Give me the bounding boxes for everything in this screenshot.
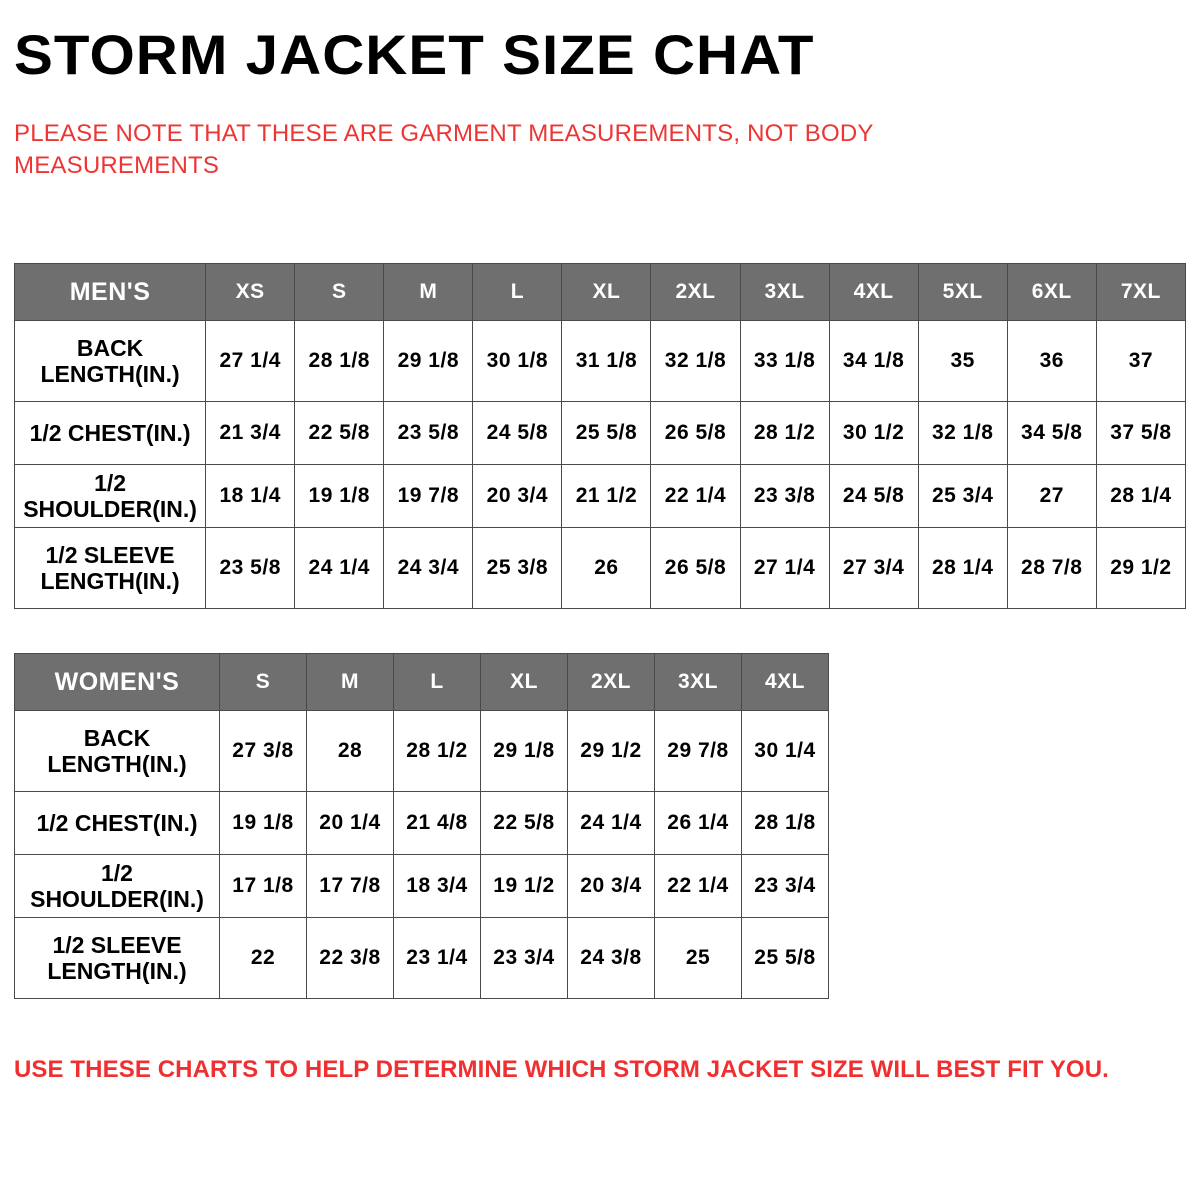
mens-cell-back-length-3xl: 33 1/8 [740,321,829,402]
mens-size-header-l: L [473,264,562,321]
womens-cell-half-shoulder-4xl: 23 3/4 [742,855,829,918]
table-row: BACK LENGTH(IN.) 27 1/4 28 1/8 29 1/8 30… [15,321,1186,402]
mens-size-header-4xl: 4XL [829,264,918,321]
womens-table-body: BACK LENGTH(IN.) 27 3/8 28 28 1/2 29 1/8… [15,711,829,999]
mens-cell-back-length-xs: 27 1/4 [206,321,295,402]
mens-table-body: BACK LENGTH(IN.) 27 1/4 28 1/8 29 1/8 30… [15,321,1186,609]
mens-cell-back-length-xl: 31 1/8 [562,321,651,402]
womens-cell-half-shoulder-2xl: 20 3/4 [568,855,655,918]
womens-row-label-half-shoulder: 1/2 SHOULDER(IN.) [15,855,220,918]
womens-cell-half-chest-4xl: 28 1/8 [742,792,829,855]
mens-cell-half-shoulder-2xl: 22 1/4 [651,465,740,528]
mens-cell-half-sleeve-7xl: 29 1/2 [1096,528,1185,609]
mens-cell-half-chest-3xl: 28 1/2 [740,402,829,465]
mens-size-header-3xl: 3XL [740,264,829,321]
womens-cell-half-shoulder-l: 18 3/4 [394,855,481,918]
mens-cell-half-sleeve-s: 24 1/4 [295,528,384,609]
size-chart-page: STORM JACKET SIZE CHAT PLEASE NOTE THAT … [0,0,1200,1200]
womens-size-header-xl: XL [481,654,568,711]
mens-table-head: MEN'S XS S M L XL 2XL 3XL 4XL 5XL 6XL 7X… [15,264,1186,321]
mens-cell-half-sleeve-6xl: 28 7/8 [1007,528,1096,609]
mens-cell-half-shoulder-xs: 18 1/4 [206,465,295,528]
mens-size-header-s: S [295,264,384,321]
womens-cell-back-length-m: 28 [307,711,394,792]
mens-cell-half-shoulder-6xl: 27 [1007,465,1096,528]
mens-header-row: MEN'S XS S M L XL 2XL 3XL 4XL 5XL 6XL 7X… [15,264,1186,321]
womens-cell-back-length-l: 28 1/2 [394,711,481,792]
mens-size-header-xs: XS [206,264,295,321]
page-title: STORM JACKET SIZE CHAT [14,22,815,88]
womens-size-header-l: L [394,654,481,711]
mens-cell-half-shoulder-l: 20 3/4 [473,465,562,528]
womens-row-label-half-chest: 1/2 CHEST(IN.) [15,792,220,855]
mens-cell-half-chest-m: 23 5/8 [384,402,473,465]
womens-cell-half-shoulder-m: 17 7/8 [307,855,394,918]
table-row: 1/2 SLEEVE LENGTH(IN.) 23 5/8 24 1/4 24 … [15,528,1186,609]
womens-cell-half-chest-l: 21 4/8 [394,792,481,855]
table-row: 1/2 SHOULDER(IN.) 17 1/8 17 7/8 18 3/4 1… [15,855,829,918]
mens-cell-back-length-6xl: 36 [1007,321,1096,402]
womens-cell-half-sleeve-m: 22 3/8 [307,918,394,999]
mens-cell-back-length-m: 29 1/8 [384,321,473,402]
mens-row-label-back-length: BACK LENGTH(IN.) [15,321,206,402]
mens-row-label-half-chest: 1/2 CHEST(IN.) [15,402,206,465]
womens-cell-half-shoulder-3xl: 22 1/4 [655,855,742,918]
womens-cell-half-sleeve-2xl: 24 3/8 [568,918,655,999]
mens-row-label-half-shoulder: 1/2 SHOULDER(IN.) [15,465,206,528]
womens-cell-half-chest-xl: 22 5/8 [481,792,568,855]
mens-size-header-6xl: 6XL [1007,264,1096,321]
table-row: BACK LENGTH(IN.) 27 3/8 28 28 1/2 29 1/8… [15,711,829,792]
mens-size-header-xl: XL [562,264,651,321]
mens-cell-half-shoulder-xl: 21 1/2 [562,465,651,528]
mens-cell-half-shoulder-5xl: 25 3/4 [918,465,1007,528]
womens-table-head: WOMEN'S S M L XL 2XL 3XL 4XL [15,654,829,711]
womens-size-header-2xl: 2XL [568,654,655,711]
womens-cell-half-sleeve-4xl: 25 5/8 [742,918,829,999]
table-row: 1/2 SHOULDER(IN.) 18 1/4 19 1/8 19 7/8 2… [15,465,1186,528]
mens-cell-half-shoulder-4xl: 24 5/8 [829,465,918,528]
womens-cell-half-chest-3xl: 26 1/4 [655,792,742,855]
mens-row-label-half-sleeve-length: 1/2 SLEEVE LENGTH(IN.) [15,528,206,609]
mens-size-table: MEN'S XS S M L XL 2XL 3XL 4XL 5XL 6XL 7X… [14,263,1186,609]
mens-cell-half-chest-4xl: 30 1/2 [829,402,918,465]
womens-cell-back-length-4xl: 30 1/4 [742,711,829,792]
mens-cell-half-shoulder-s: 19 1/8 [295,465,384,528]
mens-cell-half-shoulder-m: 19 7/8 [384,465,473,528]
womens-header-row: WOMEN'S S M L XL 2XL 3XL 4XL [15,654,829,711]
mens-cell-back-length-s: 28 1/8 [295,321,384,402]
womens-cell-half-shoulder-xl: 19 1/2 [481,855,568,918]
womens-cell-half-sleeve-3xl: 25 [655,918,742,999]
mens-cell-half-sleeve-xs: 23 5/8 [206,528,295,609]
womens-cell-back-length-xl: 29 1/8 [481,711,568,792]
womens-row-label-half-sleeve-length: 1/2 SLEEVE LENGTH(IN.) [15,918,220,999]
womens-cell-half-sleeve-xl: 23 3/4 [481,918,568,999]
womens-size-header-4xl: 4XL [742,654,829,711]
womens-size-header-s: S [220,654,307,711]
mens-cell-half-chest-s: 22 5/8 [295,402,384,465]
mens-cell-half-sleeve-m: 24 3/4 [384,528,473,609]
garment-measurement-note: PLEASE NOTE THAT THESE ARE GARMENT MEASU… [14,118,1014,182]
womens-cell-half-sleeve-s: 22 [220,918,307,999]
mens-cell-half-sleeve-l: 25 3/8 [473,528,562,609]
mens-cell-back-length-2xl: 32 1/8 [651,321,740,402]
size-guidance-note: USE THESE CHARTS TO HELP DETERMINE WHICH… [14,1055,1134,1085]
womens-cell-back-length-s: 27 3/8 [220,711,307,792]
mens-cell-half-chest-xl: 25 5/8 [562,402,651,465]
womens-size-header-3xl: 3XL [655,654,742,711]
mens-cell-back-length-4xl: 34 1/8 [829,321,918,402]
mens-cell-half-chest-6xl: 34 5/8 [1007,402,1096,465]
womens-cell-half-chest-s: 19 1/8 [220,792,307,855]
mens-cell-half-chest-xs: 21 3/4 [206,402,295,465]
table-row: 1/2 CHEST(IN.) 19 1/8 20 1/4 21 4/8 22 5… [15,792,829,855]
mens-cell-back-length-5xl: 35 [918,321,1007,402]
mens-cell-half-shoulder-3xl: 23 3/8 [740,465,829,528]
womens-cell-half-chest-m: 20 1/4 [307,792,394,855]
mens-cell-half-chest-2xl: 26 5/8 [651,402,740,465]
mens-cell-half-shoulder-7xl: 28 1/4 [1096,465,1185,528]
mens-size-header-2xl: 2XL [651,264,740,321]
womens-cell-back-length-2xl: 29 1/2 [568,711,655,792]
mens-cell-half-sleeve-3xl: 27 1/4 [740,528,829,609]
mens-cell-half-chest-7xl: 37 5/8 [1096,402,1185,465]
mens-cell-half-chest-5xl: 32 1/8 [918,402,1007,465]
mens-table-title: MEN'S [15,264,206,321]
mens-cell-half-sleeve-5xl: 28 1/4 [918,528,1007,609]
mens-cell-half-chest-l: 24 5/8 [473,402,562,465]
mens-cell-half-sleeve-4xl: 27 3/4 [829,528,918,609]
mens-cell-back-length-l: 30 1/8 [473,321,562,402]
mens-cell-half-sleeve-2xl: 26 5/8 [651,528,740,609]
mens-cell-back-length-7xl: 37 [1096,321,1185,402]
womens-size-table: WOMEN'S S M L XL 2XL 3XL 4XL BACK LENGTH… [14,653,829,999]
womens-cell-back-length-3xl: 29 7/8 [655,711,742,792]
mens-size-header-7xl: 7XL [1096,264,1185,321]
mens-cell-half-sleeve-xl: 26 [562,528,651,609]
mens-size-header-5xl: 5XL [918,264,1007,321]
womens-table-title: WOMEN'S [15,654,220,711]
table-row: 1/2 CHEST(IN.) 21 3/4 22 5/8 23 5/8 24 5… [15,402,1186,465]
womens-size-header-m: M [307,654,394,711]
womens-row-label-back-length: BACK LENGTH(IN.) [15,711,220,792]
womens-cell-half-chest-2xl: 24 1/4 [568,792,655,855]
womens-cell-half-shoulder-s: 17 1/8 [220,855,307,918]
table-row: 1/2 SLEEVE LENGTH(IN.) 22 22 3/8 23 1/4 … [15,918,829,999]
womens-cell-half-sleeve-l: 23 1/4 [394,918,481,999]
mens-size-header-m: M [384,264,473,321]
